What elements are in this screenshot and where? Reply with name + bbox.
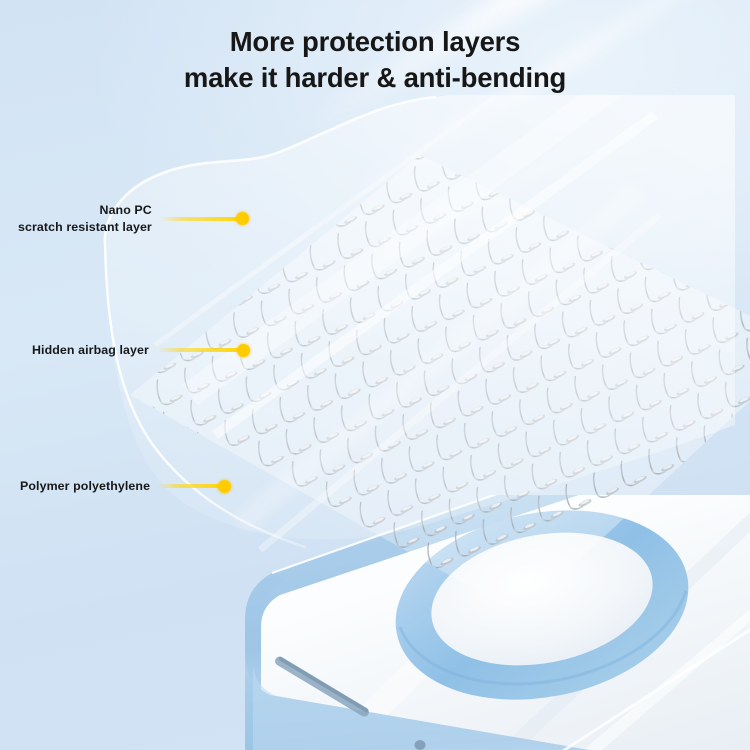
product-feature-image: More protection layers make it harder & … xyxy=(0,0,750,750)
callout-hidden-airbag: Hidden airbag layer xyxy=(32,342,250,359)
headline: More protection layers make it harder & … xyxy=(0,24,750,96)
callout-label: Polymer polyethylene xyxy=(20,478,150,495)
callout-label: Nano PC scratch resistant layer xyxy=(18,202,152,235)
background-gradient xyxy=(0,0,750,750)
callout-label: Hidden airbag layer xyxy=(32,342,149,359)
callout-leader-line xyxy=(160,217,238,221)
callout-leader-line xyxy=(157,348,239,352)
callout-leader-line xyxy=(158,484,220,488)
callout-dot-icon xyxy=(236,212,249,225)
callout-polymer-polyethylene: Polymer polyethylene xyxy=(20,478,231,495)
callout-dot-icon xyxy=(237,344,250,357)
headline-line-2: make it harder & anti-bending xyxy=(0,60,750,96)
callout-nano-pc: Nano PC scratch resistant layer xyxy=(18,202,249,235)
headline-line-1: More protection layers xyxy=(230,26,521,57)
callout-dot-icon xyxy=(218,480,231,493)
